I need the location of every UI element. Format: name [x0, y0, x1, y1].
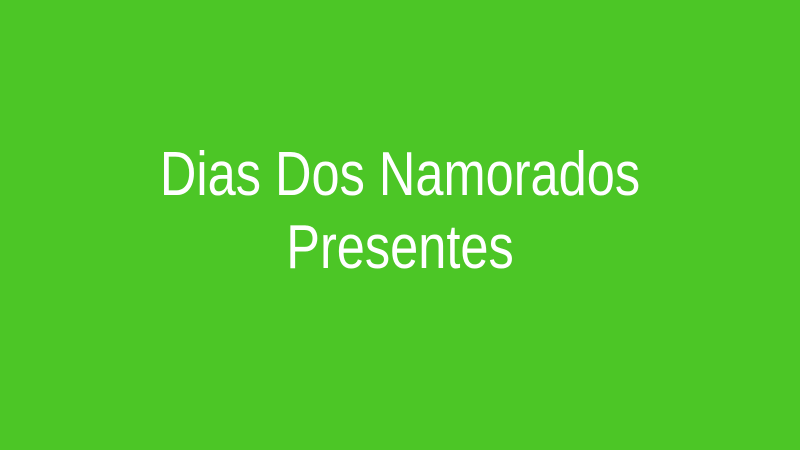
banner-canvas: Dias Dos Namorados Presentes	[0, 0, 800, 450]
page-title-line-1: Dias Dos Namorados	[81, 138, 720, 211]
page-title-line-2: Presentes	[81, 211, 720, 284]
page-title: Dias Dos Namorados Presentes	[0, 138, 800, 284]
